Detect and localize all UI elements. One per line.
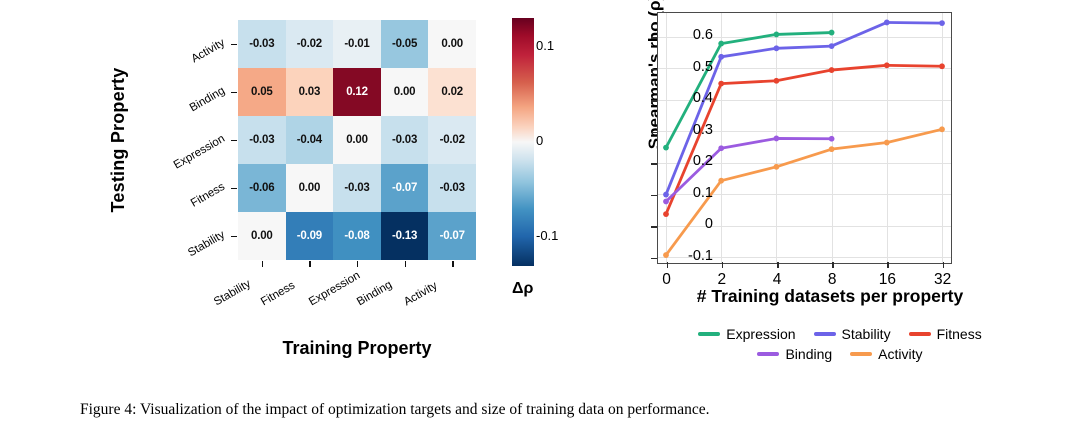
line-chart-y-tick-mark: [651, 37, 657, 39]
legend-swatch-binding: [757, 352, 779, 356]
data-point-expression: [774, 32, 780, 38]
line-chart-x-tick-mark: [667, 262, 669, 268]
heatmap-cell: -0.02: [428, 116, 476, 164]
data-point-expression: [829, 30, 835, 36]
line-chart-y-tick-mark: [651, 226, 657, 228]
line-chart-panel: Spearman's rho (ρ) -0.100.10.20.30.40.50…: [600, 0, 1074, 390]
line-chart-y-tick-label: 0.4: [693, 90, 713, 106]
data-point-activity: [829, 146, 835, 152]
colorbar-tick-label: 0: [536, 133, 543, 148]
legend-item-activity[interactable]: Activity: [850, 346, 922, 362]
legend-swatch-stability: [814, 332, 836, 336]
line-chart-y-tick-label: 0.5: [693, 59, 713, 75]
line-chart-y-tick-mark: [651, 258, 657, 260]
heatmap-panel: Testing Property -0.03-0.02-0.01-0.050.0…: [0, 0, 600, 390]
legend-item-fitness[interactable]: Fitness: [909, 326, 982, 342]
heatmap-x-axis-label: Training Property: [238, 338, 476, 359]
line-chart-x-tick-mark: [777, 262, 779, 268]
heatmap-y-tick-mark: [231, 44, 237, 45]
data-point-stability: [774, 45, 780, 51]
line-chart-y-tick-mark: [651, 195, 657, 197]
line-chart-y-tick-mark: [651, 69, 657, 71]
heatmap-cell: -0.03: [238, 20, 286, 68]
heatmap-x-tick-mark: [309, 261, 310, 267]
data-point-binding: [663, 199, 669, 205]
data-point-activity: [884, 140, 890, 146]
line-chart-y-tick-label: 0: [705, 216, 713, 232]
line-chart-y-tick-label: 0.2: [693, 153, 713, 169]
heatmap-cell: -0.07: [381, 164, 429, 212]
line-chart-y-tick-mark: [651, 100, 657, 102]
line-chart-y-tick-label: 0.1: [693, 185, 713, 201]
colorbar: 0.10-0.1 Δρ: [512, 18, 598, 318]
heatmap-cell: -0.06: [238, 164, 286, 212]
legend-swatch-fitness: [909, 332, 931, 336]
heatmap-cell: -0.08: [333, 212, 381, 260]
line-chart-y-tick-label: -0.1: [688, 248, 713, 264]
heatmap-cell: -0.03: [381, 116, 429, 164]
line-chart-x-tick-mark: [722, 262, 724, 268]
heatmap-x-tick-stability: Stability: [212, 278, 253, 309]
heatmap-cell: 0.00: [333, 116, 381, 164]
figure-caption: Figure 4: Visualization of the impact of…: [80, 400, 996, 419]
heatmap-cell: -0.02: [286, 20, 334, 68]
line-series-binding: [666, 138, 832, 201]
heatmap-cell: -0.03: [428, 164, 476, 212]
heatmap-cell: -0.07: [428, 212, 476, 260]
heatmap-cell: 0.05: [238, 68, 286, 116]
legend-row: BindingActivity: [630, 346, 1050, 362]
heatmap-x-tick-mark: [452, 261, 453, 267]
legend-swatch-activity: [850, 352, 872, 356]
legend-label: Stability: [842, 326, 891, 342]
data-point-fitness: [884, 62, 890, 68]
heatmap-cell: 0.00: [381, 68, 429, 116]
data-point-fitness: [718, 81, 724, 87]
colorbar-title: Δρ: [512, 280, 533, 298]
line-chart-x-tick-mark: [832, 262, 834, 268]
heatmap-x-tick-fitness: Fitness: [259, 279, 297, 308]
data-point-activity: [663, 252, 669, 258]
legend-label: Fitness: [937, 326, 982, 342]
data-point-stability: [663, 192, 669, 198]
colorbar-tick-label: 0.1: [536, 38, 554, 53]
legend-row: ExpressionStabilityFitness: [630, 326, 1050, 342]
heatmap-cell: -0.03: [238, 116, 286, 164]
line-chart-x-axis-label: # Training datasets per property: [620, 286, 1040, 307]
heatmap-y-axis-label: Testing Property: [18, 40, 218, 240]
line-chart-y-tick-label: 0.6: [693, 27, 713, 43]
line-chart-y-tick-label: 0.3: [693, 122, 713, 138]
heatmap-cell: -0.04: [286, 116, 334, 164]
data-point-expression: [718, 41, 724, 47]
heatmap-cell: -0.01: [333, 20, 381, 68]
heatmap-x-tick-mark: [262, 261, 263, 267]
legend-item-expression[interactable]: Expression: [698, 326, 795, 342]
heatmap-cell: -0.09: [286, 212, 334, 260]
data-point-activity: [939, 126, 945, 132]
data-point-binding: [829, 136, 835, 142]
data-point-fitness: [774, 78, 780, 84]
heatmap-cell: 0.00: [286, 164, 334, 212]
data-point-activity: [774, 164, 780, 170]
data-point-fitness: [663, 211, 669, 217]
heatmap-cell: 0.02: [428, 68, 476, 116]
heatmap-x-tick-mark: [357, 261, 358, 267]
colorbar-gradient: [512, 18, 534, 266]
line-chart-y-tick-mark: [651, 132, 657, 134]
data-point-stability: [884, 20, 890, 26]
heatmap-cell: -0.05: [381, 20, 429, 68]
legend-swatch-expression: [698, 332, 720, 336]
data-point-fitness: [829, 67, 835, 73]
data-point-stability: [718, 54, 724, 60]
legend-label: Binding: [785, 346, 832, 362]
data-point-stability: [939, 20, 945, 26]
data-point-binding: [718, 145, 724, 151]
legend-item-stability[interactable]: Stability: [814, 326, 891, 342]
heatmap-y-tick-mark: [231, 188, 237, 189]
figure-4: Testing Property -0.03-0.02-0.01-0.050.0…: [0, 0, 1074, 438]
data-point-binding: [774, 136, 780, 142]
heatmap-cell: 0.03: [286, 68, 334, 116]
heatmap-cell: 0.00: [238, 212, 286, 260]
heatmap-cell: -0.13: [381, 212, 429, 260]
legend-label: Expression: [726, 326, 795, 342]
legend-label: Activity: [878, 346, 922, 362]
line-chart-legend: ExpressionStabilityFitnessBindingActivit…: [630, 326, 1050, 366]
colorbar-tick-label: -0.1: [536, 228, 558, 243]
line-chart-x-tick-mark: [887, 262, 889, 268]
data-point-expression: [663, 145, 669, 151]
data-point-activity: [718, 178, 724, 184]
heatmap-y-tick-mark: [231, 92, 237, 93]
heatmap-x-tick-mark: [405, 261, 406, 267]
line-chart-y-tick-mark: [651, 163, 657, 165]
heatmap-cell: -0.03: [333, 164, 381, 212]
heatmap-y-tick-mark: [231, 236, 237, 237]
heatmap-cell: 0.00: [428, 20, 476, 68]
heatmap-y-tick-mark: [231, 140, 237, 141]
heatmap-x-tick-activity: Activity: [402, 280, 440, 309]
heatmap-grid: -0.03-0.02-0.01-0.050.000.050.030.120.00…: [238, 20, 476, 260]
line-chart-x-tick-mark: [943, 262, 945, 268]
data-point-fitness: [939, 63, 945, 69]
legend-item-binding[interactable]: Binding: [757, 346, 832, 362]
heatmap-x-tick-expression: Expression: [307, 270, 362, 309]
line-chart-plot-area: [657, 12, 952, 264]
heatmap-cell: 0.12: [333, 68, 381, 116]
heatmap-x-tick-binding: Binding: [355, 279, 394, 309]
data-point-stability: [829, 43, 835, 49]
